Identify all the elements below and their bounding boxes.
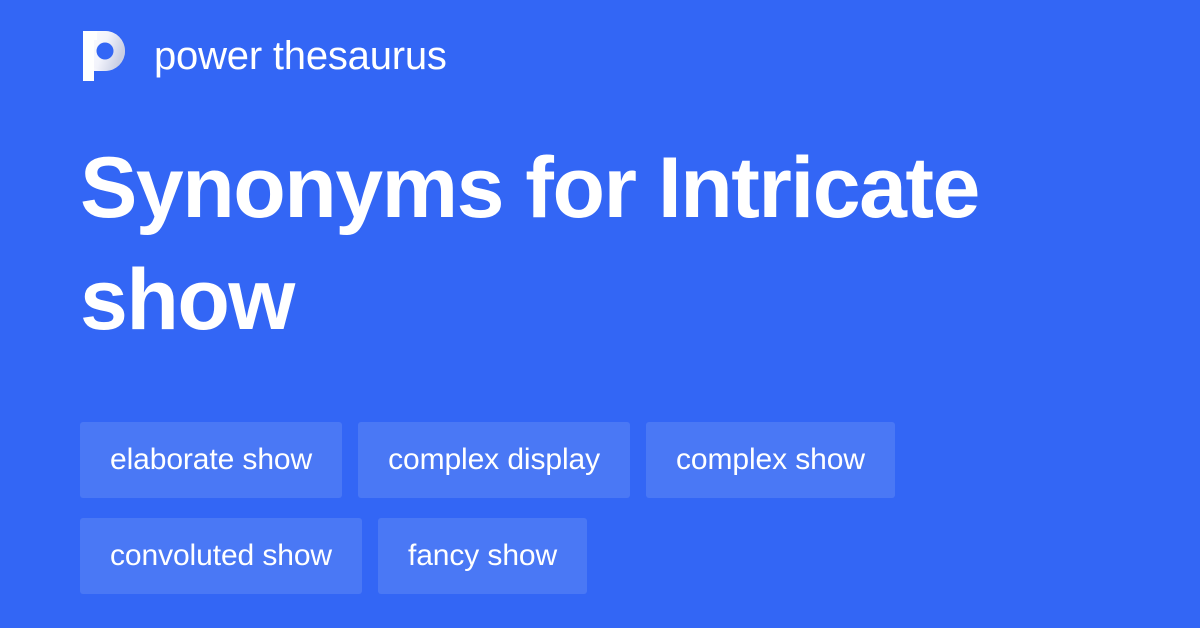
synonym-chip[interactable]: fancy show [378, 518, 587, 594]
page-title: Synonyms for Intricate show [80, 132, 1120, 356]
page-title-line-2: show [80, 244, 1120, 356]
synonym-chip[interactable]: complex display [358, 422, 630, 498]
synonyms-share-card: power thesaurus Synonyms for Intricate s… [0, 0, 1200, 628]
synonym-chip[interactable]: elaborate show [80, 422, 342, 498]
synonym-chip[interactable]: complex show [646, 422, 895, 498]
page-title-line-1: Synonyms for Intricate [80, 132, 1120, 244]
synonym-chip-list: elaborate show complex display complex s… [80, 422, 1140, 594]
synonym-chip[interactable]: convoluted show [80, 518, 362, 594]
brand-name: power thesaurus [154, 36, 447, 76]
brand-header[interactable]: power thesaurus [80, 26, 447, 86]
power-thesaurus-logo-icon [80, 27, 130, 85]
